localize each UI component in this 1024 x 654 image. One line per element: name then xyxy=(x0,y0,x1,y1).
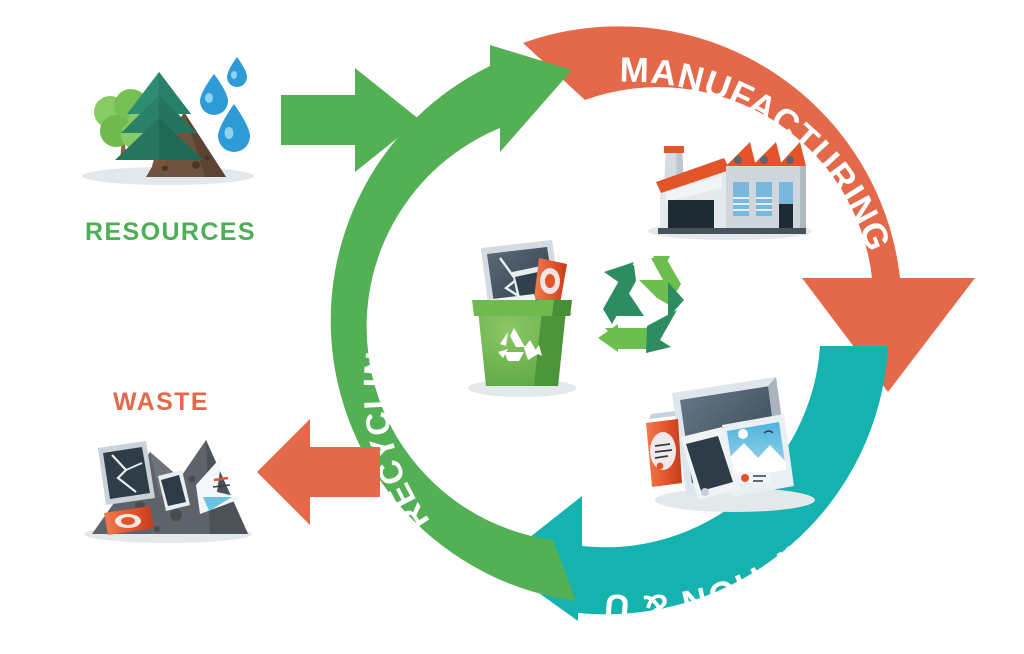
green-recycling-bin-with-ewaste-icon xyxy=(468,240,576,397)
recycle-mobius-triangle-icon xyxy=(598,256,684,353)
label-waste: WASTE xyxy=(113,388,209,416)
cracked-screen-icon xyxy=(98,441,155,505)
waste-illustration xyxy=(84,440,252,543)
factory-plant-icon xyxy=(648,142,812,240)
water-droplets-icon xyxy=(200,57,250,152)
diagram-canvas: MANUFACTURING CONSUMPTION & USE RECYCLIN… xyxy=(0,0,1024,654)
bin-can-icon xyxy=(534,258,567,304)
resources-illustration xyxy=(82,57,254,185)
circular-economy-diagram: MANUFACTURING CONSUMPTION & USE RECYCLIN… xyxy=(0,0,1024,654)
arc-label-recycling: RECYCLING xyxy=(356,319,436,537)
label-resources: RESOURCES xyxy=(85,218,256,246)
